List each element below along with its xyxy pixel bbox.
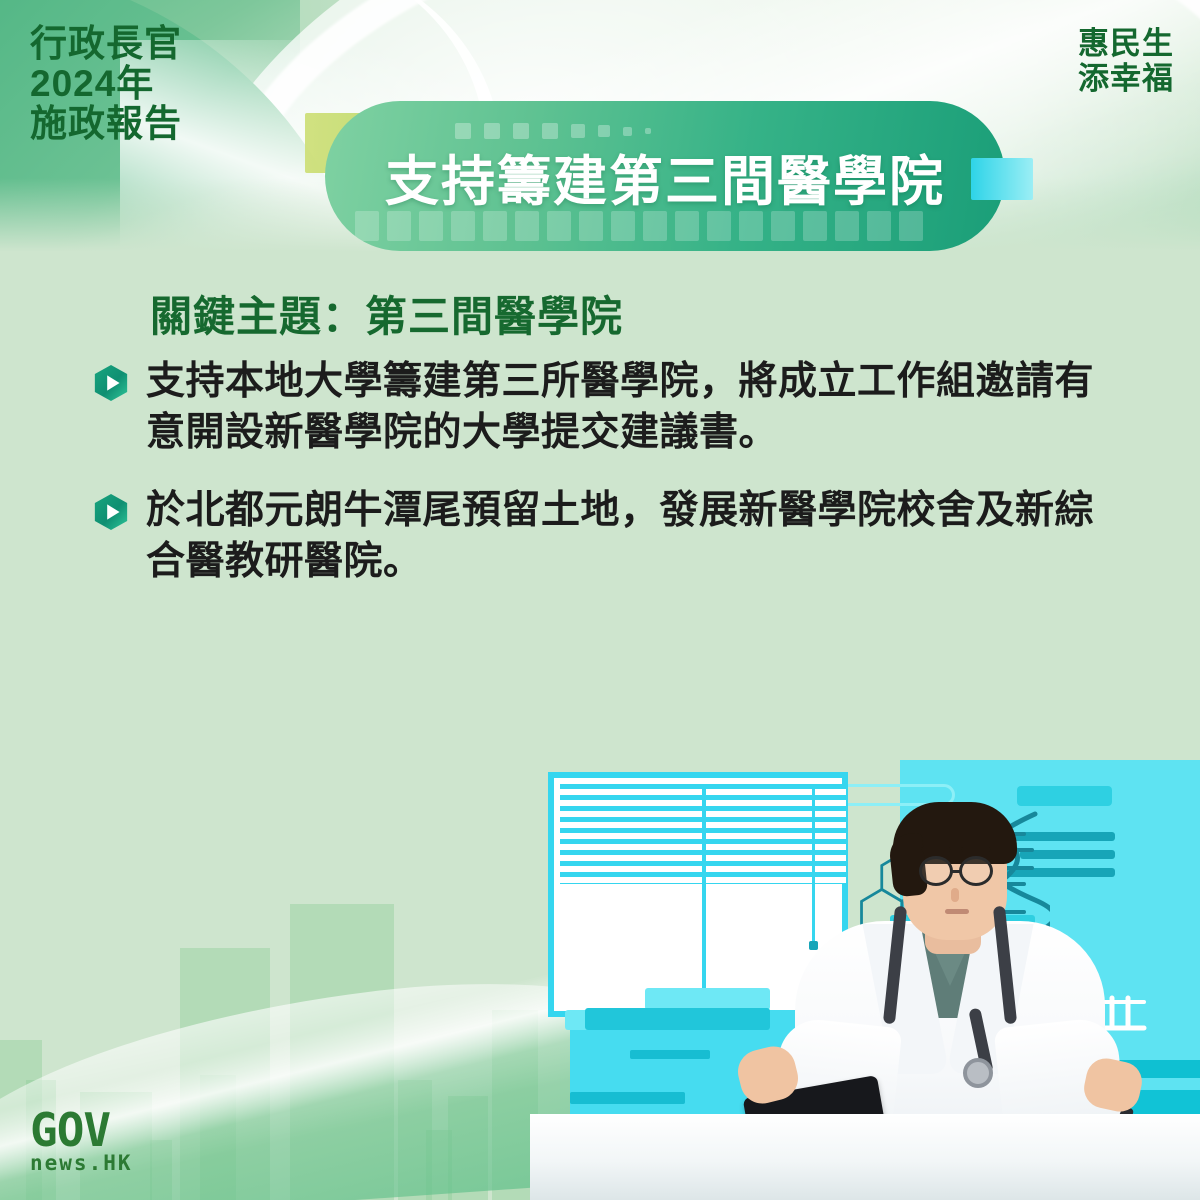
eyebrow-left <box>921 847 951 852</box>
slogan-line-2: 添幸福 <box>1078 61 1174 96</box>
logo-secondary-text: news.HK <box>30 1153 133 1174</box>
glasses-lens-left <box>919 856 953 886</box>
report-label-line-3: 施政報告 <box>30 104 182 144</box>
report-label-line-1: 行政長官 <box>30 24 182 64</box>
page-title: 支持籌建第三間醫學院 <box>325 101 1005 251</box>
doctor-figure <box>785 776 1115 1136</box>
section-subtitle: 關鍵主題：第三間醫學院 <box>150 283 623 344</box>
nose <box>951 888 959 902</box>
glasses-bridge <box>952 870 961 873</box>
glasses-lens-right <box>959 856 993 886</box>
govnews-logo[interactable]: GOV news.HK <box>30 1109 133 1174</box>
desk-surface <box>530 1114 1200 1200</box>
report-label-line-2: 2024年 <box>30 64 182 104</box>
report-label-block: 行政長官 2024年 施政報告 <box>30 24 182 144</box>
list-item: 於北都元朗牛潭尾預留土地，發展新醫學院校舍及新綜合醫教研醫院。 <box>92 485 1102 588</box>
cabinet-handle <box>630 1050 710 1059</box>
slogan-block: 惠民生 添幸福 <box>1078 26 1174 96</box>
mouth <box>945 909 969 914</box>
eyebrow-right <box>961 847 991 852</box>
logo-primary-text: GOV <box>30 1109 133 1151</box>
play-hexagon-icon <box>92 493 130 531</box>
bullet-list: 支持本地大學籌建第三所醫學院，將成立工作組邀請有意開設新醫學院的大學提交建議書。… <box>92 356 1102 614</box>
list-item-text: 支持本地大學籌建第三所醫學院，將成立工作組邀請有意開設新醫學院的大學提交建議書。 <box>146 356 1102 459</box>
books-icon <box>585 1008 770 1030</box>
poster-root: 行政長官 2024年 施政報告 惠民生 添幸福 支持籌建第三間醫學院 關鍵主題：… <box>0 0 1200 1200</box>
stethoscope-chestpiece <box>963 1058 993 1088</box>
slogan-line-1: 惠民生 <box>1078 26 1174 61</box>
list-item: 支持本地大學籌建第三所醫學院，將成立工作組邀請有意開設新醫學院的大學提交建議書。 <box>92 356 1102 459</box>
cabinet-handle <box>570 1092 685 1104</box>
title-banner-wrapper: 支持籌建第三間醫學院 <box>325 101 1005 251</box>
doctor-at-desk-illustration <box>530 760 1200 1200</box>
list-item-text: 於北都元朗牛潭尾預留土地，發展新醫學院校舍及新綜合醫教研醫院。 <box>146 485 1102 588</box>
window-divider <box>702 784 706 1022</box>
play-hexagon-icon <box>92 364 130 402</box>
books-icon <box>645 988 770 1010</box>
